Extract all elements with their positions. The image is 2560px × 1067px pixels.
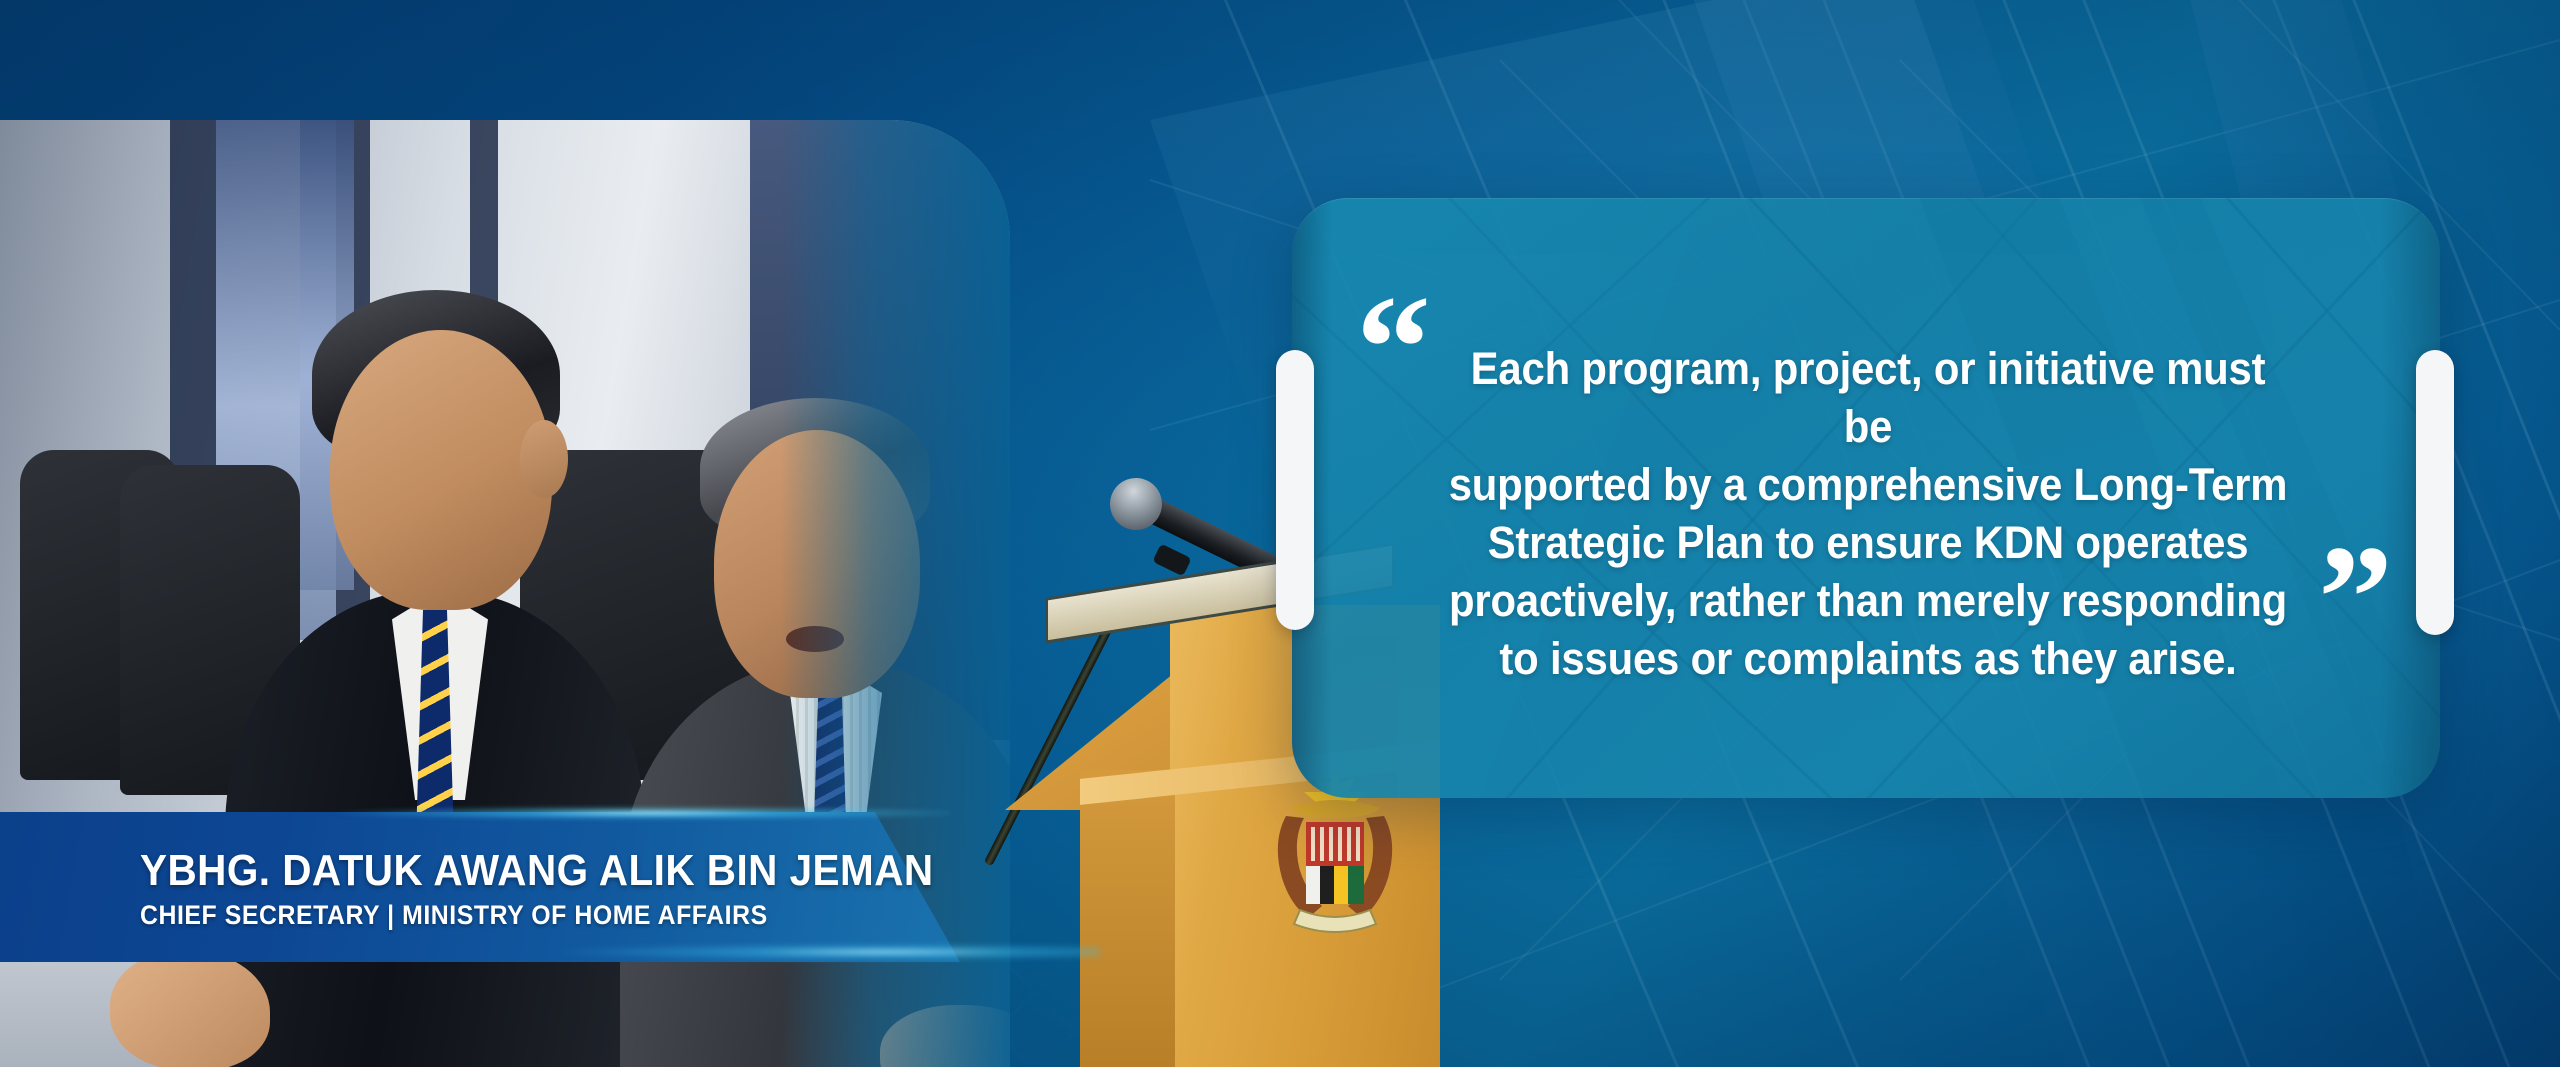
quote-line: proactively, rather than merely respondi… <box>1448 572 2289 630</box>
quote-line: Strategic Plan to ensure KDN operates <box>1448 514 2289 572</box>
speaker-name: YBHG. DATUK AWANG ALIK BIN JEMAN <box>140 846 894 896</box>
quote-left-bar <box>1276 350 1314 630</box>
speaker-title: CHIEF SECRETARY | MINISTRY OF HOME AFFAI… <box>140 900 894 931</box>
quote-line: supported by a comprehensive Long-Term <box>1448 456 2289 514</box>
quote-line: to issues or complaints as they arise. <box>1448 630 2289 688</box>
promo-banner-stage: AWANG ALIK <box>0 0 2560 1067</box>
quote-right-bar <box>2416 350 2454 635</box>
podium-side <box>1080 770 1175 1067</box>
quote-line: Each program, project, or initiative mus… <box>1448 340 2289 456</box>
microphone-clip <box>1152 544 1191 577</box>
quote-close-mark: ” <box>2318 540 2393 657</box>
quote-open-mark: “ <box>1356 290 1431 407</box>
official-left-ear <box>520 420 568 498</box>
quote-text: Each program, project, or initiative mus… <box>1448 340 2289 688</box>
official-left-head <box>330 330 552 610</box>
